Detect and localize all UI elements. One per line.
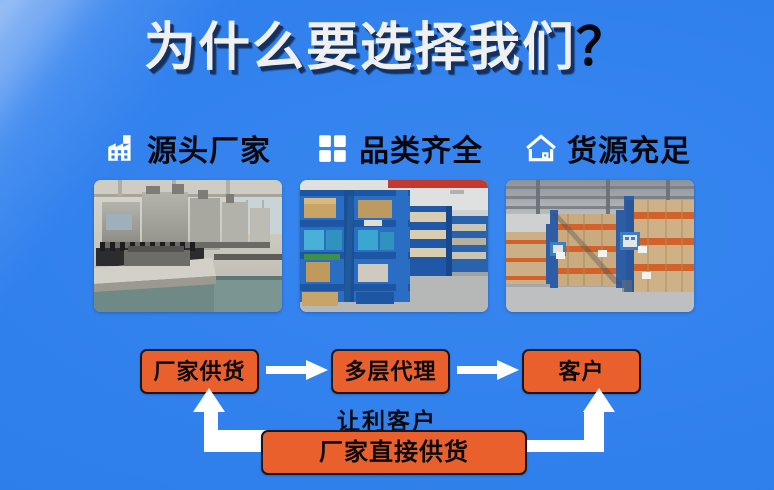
flow-node-direct-supply: 厂家直接供货	[261, 430, 527, 475]
flow-node-label: 客户	[558, 361, 604, 383]
flow-node-label: 厂家直接供货	[319, 441, 469, 465]
supply-chain-flow-diagram: 厂家供货 多层代理 客户 让利客户	[0, 0, 774, 490]
flow-node-multi-level-agent: 多层代理	[331, 349, 450, 394]
promo-banner: 为什么要选择我们？ 源头厂家	[0, 0, 774, 490]
elbow-up-arrow-icon-right	[518, 388, 622, 459]
right-arrow-icon	[266, 360, 328, 385]
right-arrow-icon-2	[457, 360, 519, 385]
flow-node-label: 多层代理	[344, 361, 436, 383]
flow-node-label: 厂家供货	[153, 361, 245, 383]
